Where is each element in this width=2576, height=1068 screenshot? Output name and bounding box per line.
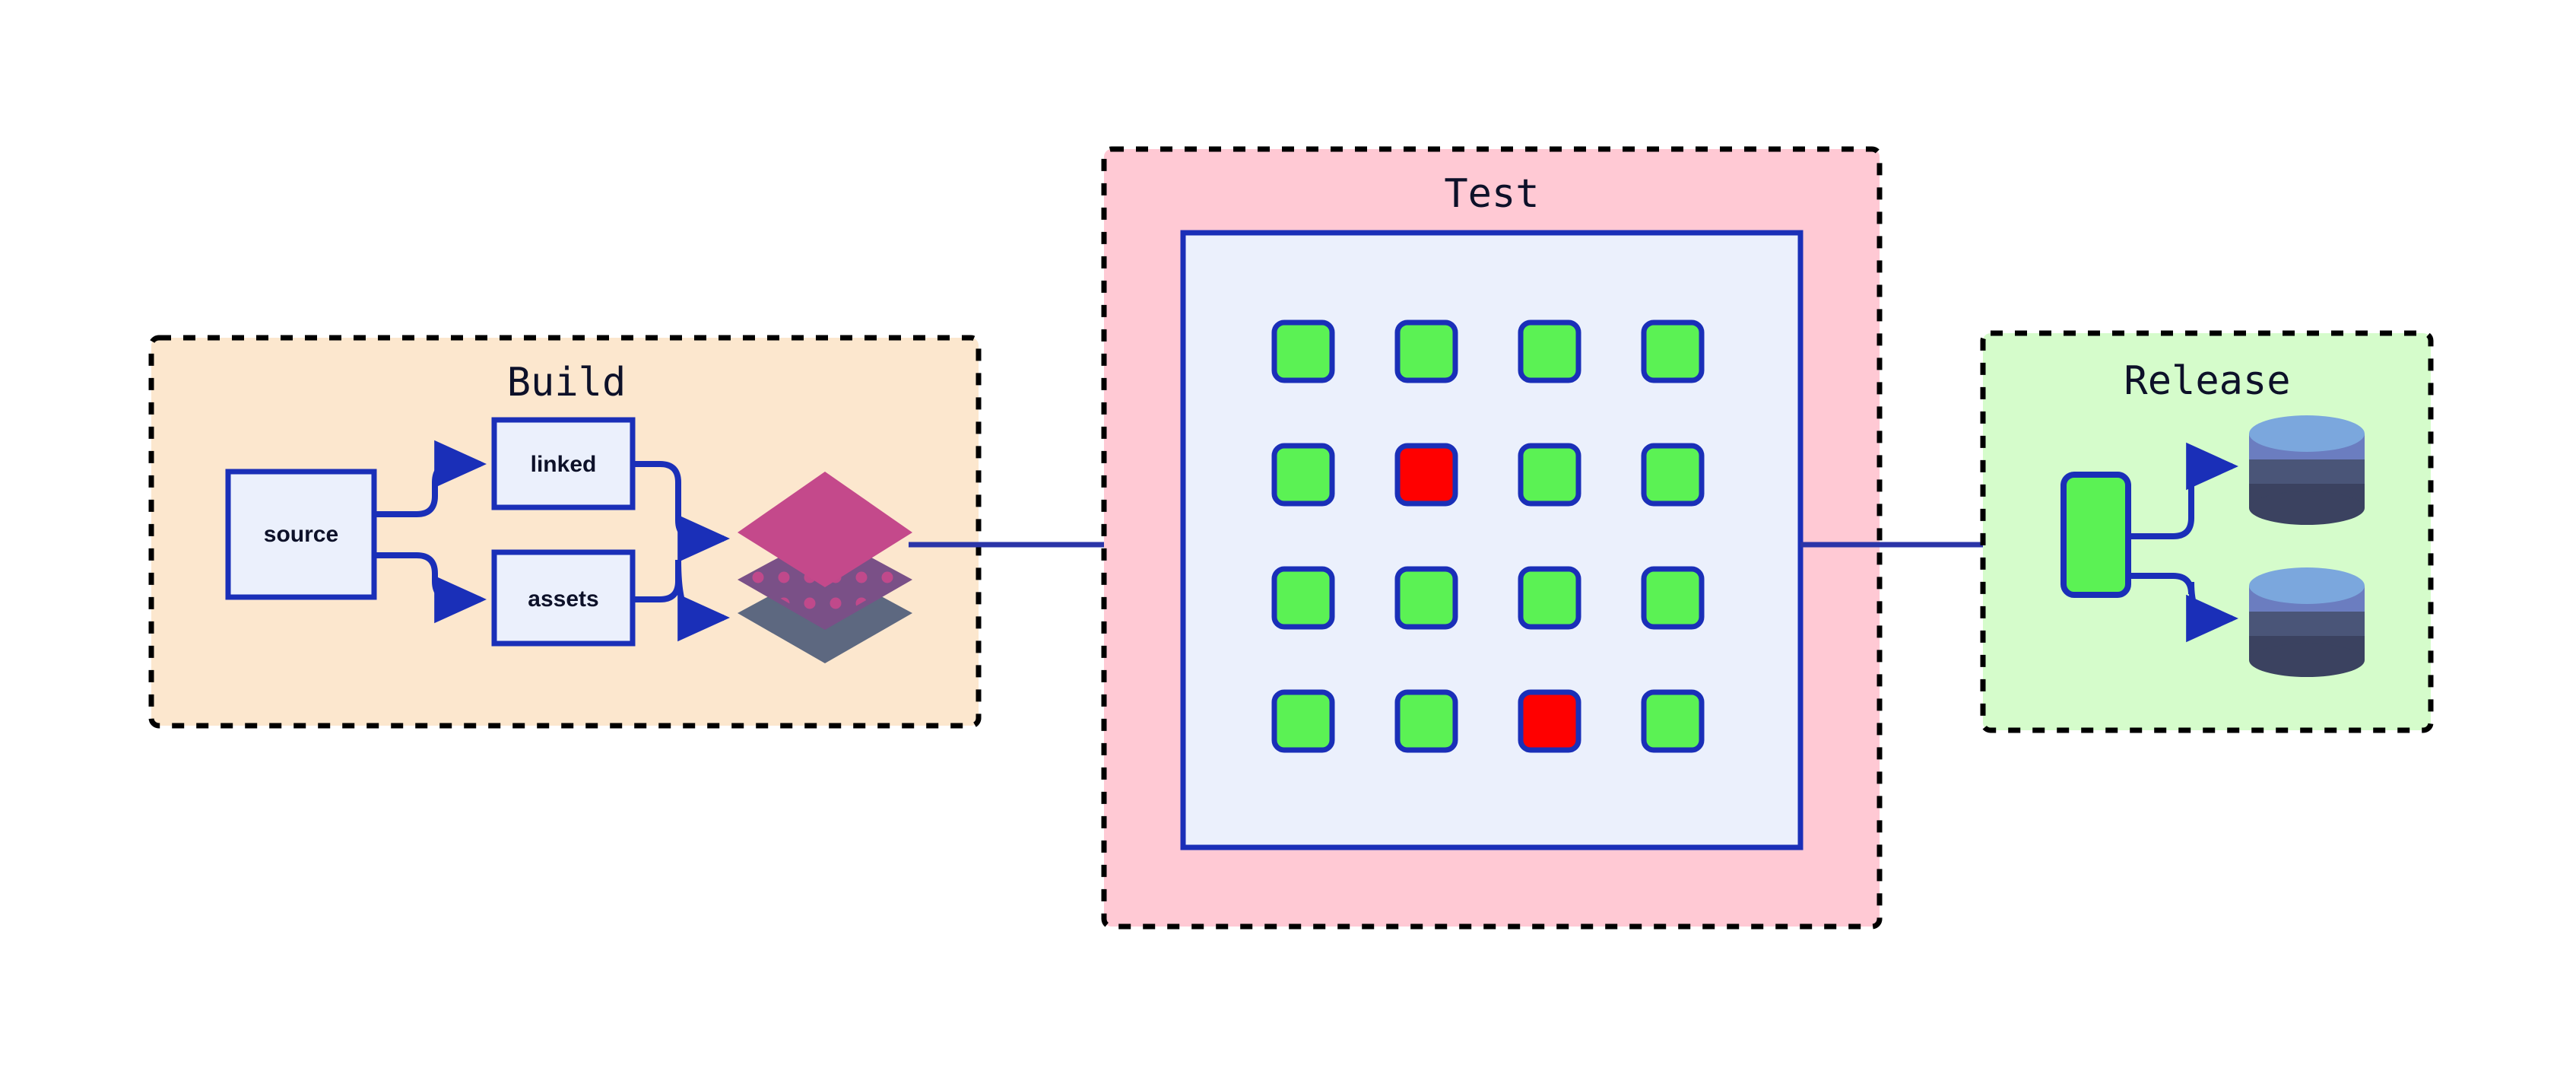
test-cell[interactable] — [1644, 569, 1702, 627]
test-cell[interactable] — [1274, 569, 1332, 627]
database-icon — [2249, 415, 2365, 525]
test-cell-failed[interactable] — [1521, 692, 1578, 750]
test-cell[interactable] — [1397, 692, 1455, 750]
stage-test[interactable]: Test — [1104, 149, 1880, 927]
test-cell[interactable] — [1274, 323, 1332, 380]
test-cell[interactable] — [1644, 323, 1702, 380]
stage-release[interactable]: Release — [1983, 333, 2431, 730]
test-cell[interactable] — [1644, 692, 1702, 750]
release-title: Release — [2124, 358, 2290, 404]
test-title: Test — [1444, 171, 1539, 217]
test-cell[interactable] — [1521, 446, 1578, 504]
node-linked-label: linked — [531, 452, 597, 477]
node-source-label: source — [264, 522, 338, 547]
test-cell[interactable] — [1397, 569, 1455, 627]
test-cell-failed[interactable] — [1397, 446, 1455, 504]
node-assets-label: assets — [528, 586, 598, 612]
test-cell[interactable] — [1521, 323, 1578, 380]
node-deploy[interactable] — [2064, 475, 2128, 595]
test-cell[interactable] — [1521, 569, 1578, 627]
database-icon — [2249, 567, 2365, 677]
test-cell[interactable] — [1397, 323, 1455, 380]
stage-build[interactable]: Build source linked assets — [151, 338, 979, 726]
build-title: Build — [507, 360, 627, 405]
pipeline-diagram: Build source linked assets T — [0, 0, 2576, 1068]
diagram-canvas: Build source linked assets T — [0, 0, 2576, 1068]
test-cell[interactable] — [1274, 692, 1332, 750]
test-cell[interactable] — [1274, 446, 1332, 504]
test-cell[interactable] — [1644, 446, 1702, 504]
